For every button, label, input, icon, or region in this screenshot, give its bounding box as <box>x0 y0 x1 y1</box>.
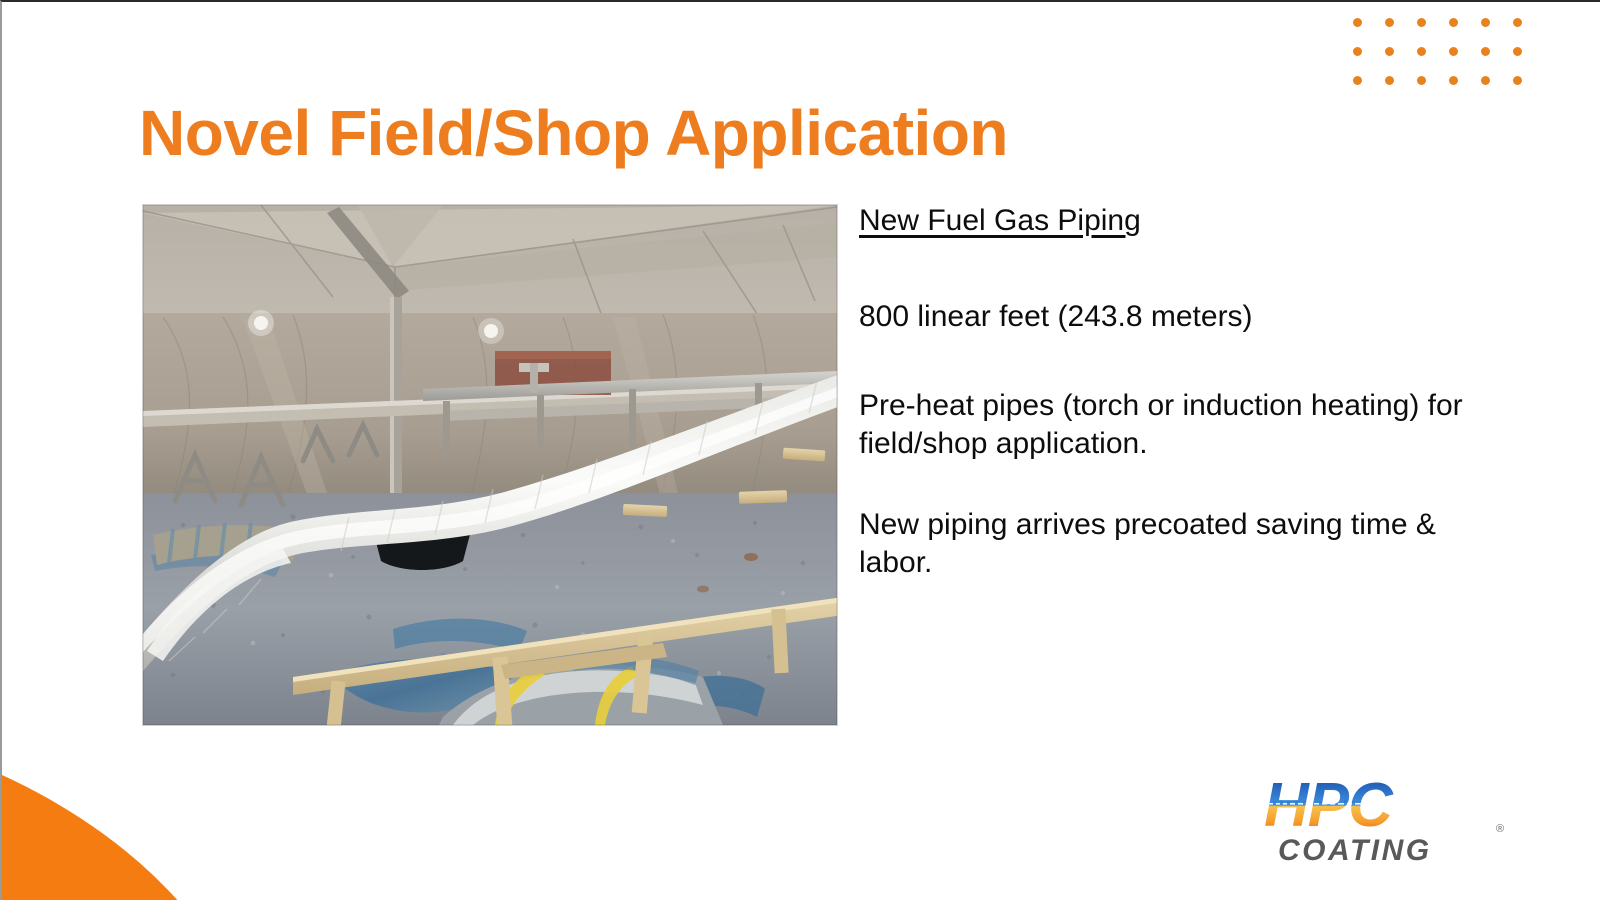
grid-dot <box>1353 18 1362 27</box>
body-paragraph-3: New piping arrives precoated saving time… <box>859 506 1469 583</box>
slide-title: Novel Field/Shop Application <box>139 100 1008 167</box>
coating-wordmark: COATING <box>1278 834 1432 866</box>
spacer <box>859 337 1469 387</box>
spacer <box>859 464 1469 506</box>
grid-dot <box>1449 76 1458 85</box>
grid-dot <box>1417 76 1426 85</box>
hpc-logo-graphic: HPC <box>1264 770 1534 866</box>
registered-trademark-icon: ® <box>1496 823 1504 835</box>
spacer <box>859 248 1469 298</box>
slide: Novel Field/Shop Application <box>0 0 1600 900</box>
grid-dot <box>1353 47 1362 56</box>
hpc-coating-logo: HPC <box>1264 770 1534 866</box>
grid-dot <box>1385 47 1394 56</box>
site-photo <box>143 205 837 725</box>
grid-dot <box>1449 18 1458 27</box>
body-text-column: New Fuel Gas Piping 800 linear feet (243… <box>859 202 1469 582</box>
grid-dot <box>1481 18 1490 27</box>
grid-dot <box>1385 76 1394 85</box>
grid-dot <box>1353 76 1362 85</box>
grid-dot <box>1513 47 1522 56</box>
grid-dot <box>1417 47 1426 56</box>
grid-dot <box>1513 76 1522 85</box>
body-heading: New Fuel Gas Piping <box>859 202 1469 240</box>
grid-dot <box>1481 76 1490 85</box>
grid-dot <box>1385 18 1394 27</box>
body-paragraph-1: 800 linear feet (243.8 meters) <box>859 298 1469 336</box>
grid-dot <box>1417 18 1426 27</box>
dot-grid-decoration <box>1353 18 1545 105</box>
body-paragraph-2: Pre-heat pipes (torch or induction heati… <box>859 387 1469 464</box>
grid-dot <box>1449 47 1458 56</box>
grid-dot <box>1481 47 1490 56</box>
site-photo-illustration <box>143 205 837 725</box>
hpc-wordmark <box>1264 770 1534 840</box>
grid-dot <box>1513 18 1522 27</box>
corner-swoosh-decoration <box>0 710 272 900</box>
